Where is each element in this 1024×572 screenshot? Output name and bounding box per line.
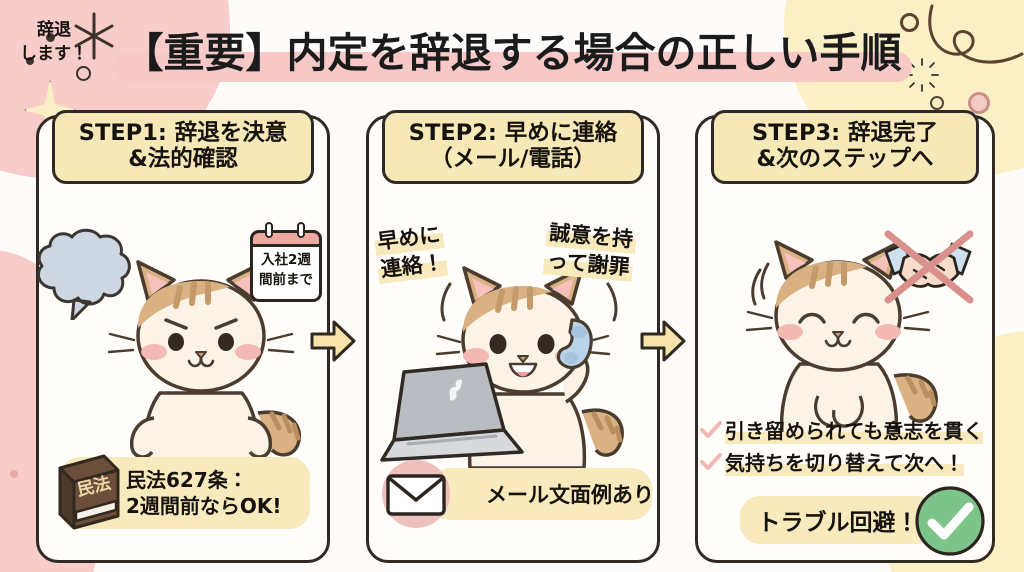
step2-label-right: 誠意を持 って謝罪 bbox=[543, 218, 638, 282]
trouble-callout-text: トラブル回避！ bbox=[758, 503, 919, 537]
calendar-text: 入社2週 間前まで bbox=[250, 250, 322, 290]
step2-badge-line2: （メール/電話） bbox=[389, 146, 637, 172]
page-title: 【重要】内定を辞退する場合の正しい手順 bbox=[0, 22, 1024, 84]
envelope-icon bbox=[378, 456, 454, 532]
infographic-canvas: 【重要】内定を辞退する場合の正しい手順 STEP1: 辞退を決意 &法的確認 bbox=[0, 0, 1024, 572]
list-item: 引き留められても意志を貫く bbox=[700, 415, 990, 444]
bullet-text-2: 気持ちを切り替えて次へ！ bbox=[725, 447, 964, 476]
pink-check-icon bbox=[700, 421, 722, 439]
calendar-icon: 入社2週 間前まで bbox=[248, 222, 326, 304]
step2-label-left: 早めに 連絡！ bbox=[373, 220, 448, 284]
step3-badge: STEP3: 辞退完了 &次のステップへ bbox=[711, 110, 979, 184]
speech-bubble-line1: 辞退 bbox=[0, 18, 108, 42]
decor-ring-bottom-right bbox=[930, 96, 944, 110]
step2-badge-line1: STEP2: 早めに連絡 bbox=[389, 120, 637, 146]
handshake-crossed-icon bbox=[874, 222, 982, 314]
step1-badge-line1: STEP1: 辞退を決意 bbox=[59, 120, 307, 146]
step1-badge-line2: &法的確認 bbox=[59, 146, 307, 172]
list-item: 気持ちを切り替えて次へ！ bbox=[700, 447, 990, 476]
calendar-ring-right bbox=[297, 222, 305, 238]
calendar-ring-left bbox=[265, 222, 273, 238]
law-callout-text: 民法627条： 2週間前ならOK! bbox=[126, 467, 282, 519]
step3-badge-line2: &次のステップへ bbox=[718, 146, 972, 172]
calendar-header-bar bbox=[250, 230, 322, 247]
step3-badge-line1: STEP3: 辞退完了 bbox=[718, 120, 972, 146]
law-callout-line2: 2週間前ならOK! bbox=[126, 493, 282, 519]
step2-badge: STEP2: 早めに連絡 （メール/電話） bbox=[382, 110, 644, 184]
law-book-icon: 民法 bbox=[48, 450, 122, 532]
decor-ring-4 bbox=[967, 96, 968, 97]
law-callout-line1: 民法627条： bbox=[126, 467, 282, 493]
speech-bubble-text: 辞退 します！ bbox=[0, 18, 108, 66]
pink-check-icon bbox=[700, 453, 722, 471]
mail-callout-pill: メール文面例あり bbox=[430, 468, 652, 520]
speech-bubble-cloud bbox=[28, 228, 136, 320]
bullet-text-1: 引き留められても意志を貫く bbox=[725, 415, 983, 444]
arrow-right-2 bbox=[640, 318, 686, 364]
decor-dot-3 bbox=[10, 470, 18, 478]
calendar-line2: 間前まで bbox=[250, 270, 322, 290]
arrow-right-1 bbox=[310, 318, 356, 364]
mail-callout-text: メール文面例あり bbox=[486, 479, 654, 509]
page-title-wrapper: 【重要】内定を辞退する場合の正しい手順 bbox=[0, 22, 1024, 92]
step3-bullet-list: 引き留められても意志を貫く 気持ちを切り替えて次へ！ bbox=[700, 415, 990, 479]
step1-badge: STEP1: 辞退を決意 &法的確認 bbox=[52, 110, 314, 184]
speech-bubble-line2: します！ bbox=[0, 42, 108, 66]
green-check-badge-icon bbox=[914, 485, 986, 557]
trouble-callout-pill: トラブル回避！ bbox=[740, 496, 936, 544]
laptop-icon bbox=[378, 360, 528, 468]
calendar-line1: 入社2週 bbox=[250, 250, 322, 270]
